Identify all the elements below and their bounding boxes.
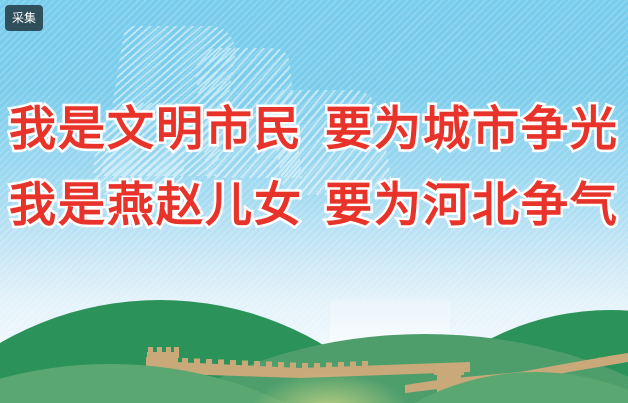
slogan-line-1-right: 要为城市争光 bbox=[325, 102, 619, 157]
valley-highlight bbox=[250, 372, 410, 403]
slogan-line-1-left: 我是文明市民 bbox=[9, 102, 303, 157]
banner-image: 我是文明市民要为城市争光 我是燕赵儿女要为河北争气 采集 bbox=[0, 0, 628, 403]
capture-button[interactable]: 采集 bbox=[5, 5, 43, 31]
slogan-line-2-right: 要为河北争气 bbox=[325, 178, 619, 233]
slogan-line-2: 我是燕赵儿女要为河北争气 bbox=[0, 168, 628, 244]
slogan-headline: 我是文明市民要为城市争光 我是燕赵儿女要为河北争气 bbox=[0, 92, 628, 244]
slogan-line-1: 我是文明市民要为城市争光 bbox=[0, 92, 628, 168]
slogan-line-2-left: 我是燕赵儿女 bbox=[9, 178, 303, 233]
